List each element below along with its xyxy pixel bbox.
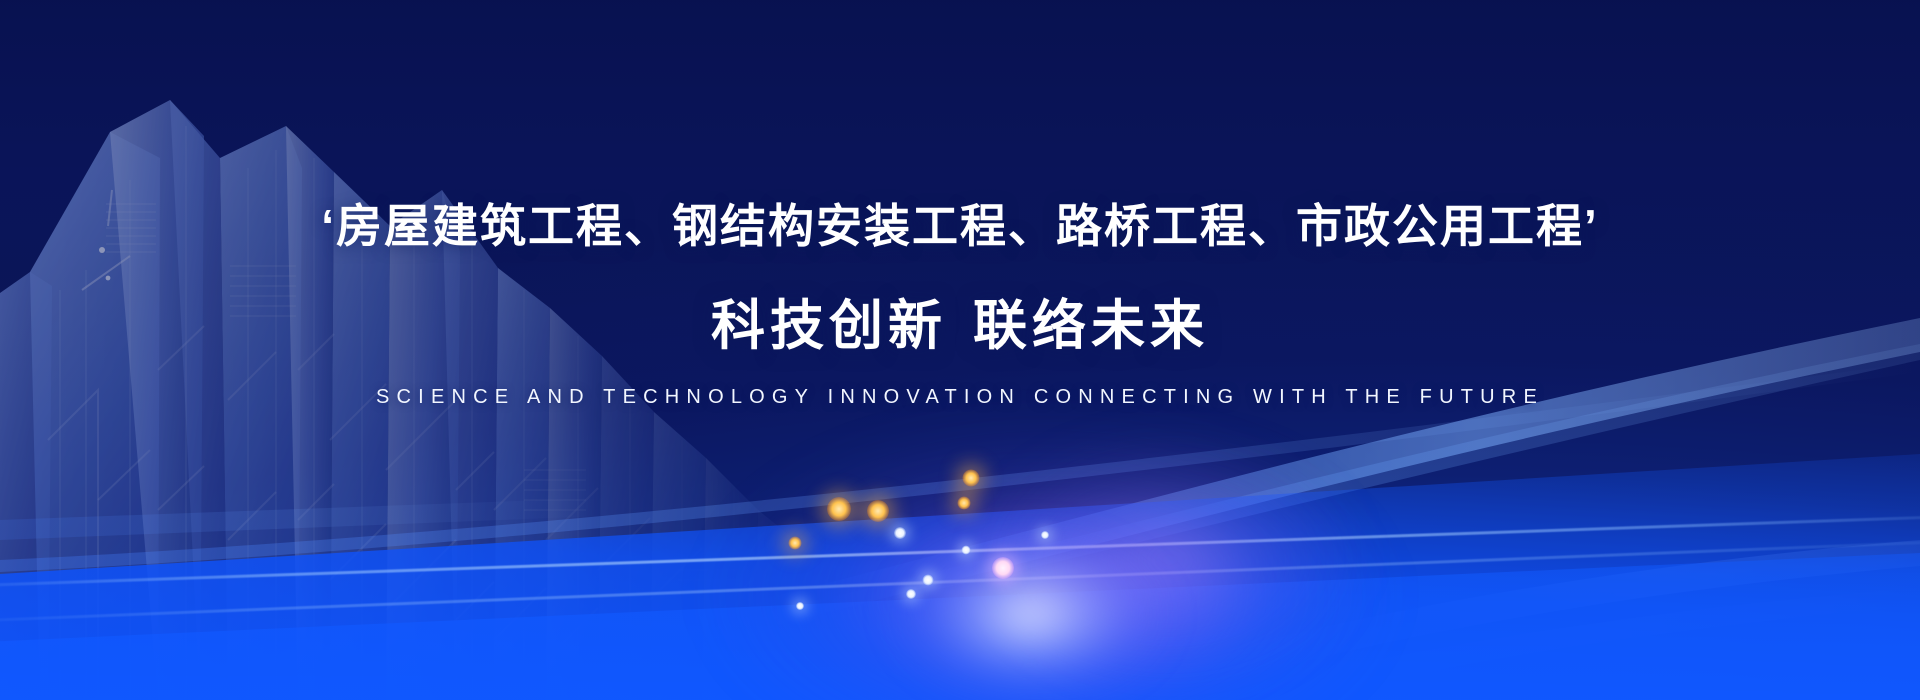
subheadline-right: 联络未来 <box>973 296 1209 356</box>
subheadline-left: 科技创新 <box>711 296 947 356</box>
hero-banner: ‘房屋建筑工程、钢结构安装工程、路桥工程、市政公用工程’ 科技创新联络未来 SC… <box>0 0 1920 700</box>
banner-headline: ‘房屋建筑工程、钢结构安装工程、路桥工程、市政公用工程’ <box>0 198 1920 256</box>
banner-tagline: SCIENCE AND TECHNOLOGY INNOVATION CONNEC… <box>0 386 1920 409</box>
white-glow-bloom <box>880 520 1180 700</box>
banner-text-block: ‘房屋建筑工程、钢结构安装工程、路桥工程、市政公用工程’ 科技创新联络未来 SC… <box>0 198 1920 409</box>
banner-subheadline: 科技创新联络未来 <box>0 294 1920 359</box>
